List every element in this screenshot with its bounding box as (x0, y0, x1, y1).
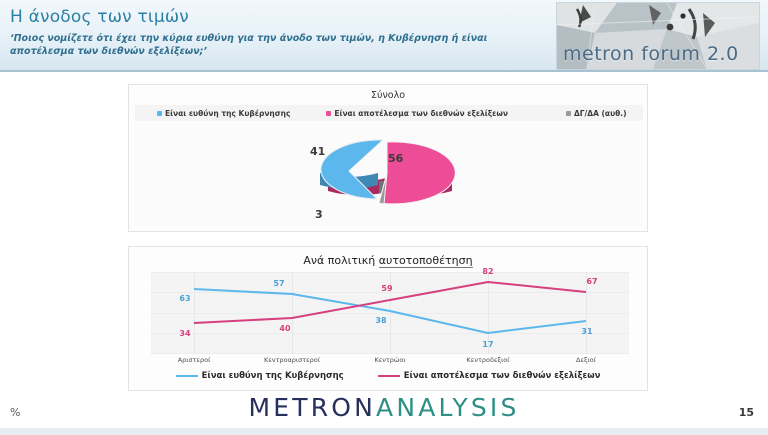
survey-question: ‘Ποιος νομίζετε ότι έχει την κύρια ευθύν… (10, 32, 538, 58)
x-label-4: Κεντροδεξιοί (467, 356, 510, 364)
x-label-3: Κεντρώοι (374, 356, 405, 364)
page-title: Η άνοδος των τιμών (10, 7, 189, 27)
pie-value-pink: 56 (388, 152, 403, 165)
line-panel-title-plain: Ανά πολιτική (303, 254, 378, 267)
line-chart-plot: 63 57 38 17 31 34 40 59 82 67 (151, 272, 629, 354)
pie-legend-label-2: Είναι αποτέλεσμα των διεθνών εξελίξεων (334, 109, 508, 118)
pie-chart-area: 41 56 3 (135, 123, 643, 227)
datapoint-blue-3: 38 (375, 316, 386, 325)
line-panel-title: Ανά πολιτική αυτοτοποθέτηση (129, 254, 647, 267)
line-chart-legend: Είναι ευθύνη της Κυβέρνησης Είναι αποτέλ… (129, 371, 647, 381)
pie-legend-item-dkna: ΔΓ/ΔΑ (αυθ.) (566, 109, 627, 118)
x-label-2: Κεντροαριστεροί (264, 356, 320, 364)
brand-metron: METRON (248, 393, 376, 422)
pie-legend-item-government: Είναι ευθύνη της Κυβέρνησης (157, 109, 290, 118)
logo-label: metron forum 2.0 (563, 43, 739, 65)
datapoint-pink-1: 34 (179, 329, 190, 338)
x-label-1: Αριστεροί (178, 356, 211, 364)
legend-line-icon (176, 375, 198, 377)
pie-panel-title: Σύνολο (129, 90, 647, 101)
political-breakdown-panel: Ανά πολιτική αυτοτοποθέτηση 63 57 38 17 … (128, 246, 648, 391)
x-label-5: Δεξιοί (576, 356, 596, 364)
pie-legend-label-1: Είναι ευθύνη της Κυβέρνησης (165, 109, 290, 118)
bottom-strip (0, 428, 768, 435)
total-pie-panel: Σύνολο Είναι ευθύνη της Κυβέρνησης Είναι… (128, 84, 648, 232)
page-number: 15 (739, 406, 754, 419)
datapoint-pink-2: 40 (279, 324, 290, 333)
slide: Η άνοδος των τιμών ‘Ποιος νομίζετε ότι έ… (0, 0, 768, 435)
datapoint-blue-1: 63 (179, 294, 190, 303)
series-line-government (194, 289, 586, 333)
datapoint-pink-4: 82 (482, 267, 493, 276)
legend-line-icon (378, 375, 400, 377)
line-legend-item-international: Είναι αποτέλεσμα των διεθνών εξελίξεων (378, 371, 601, 381)
datapoint-blue-2: 57 (273, 279, 284, 288)
datapoint-blue-4: 17 (482, 340, 493, 349)
datapoint-pink-3: 59 (381, 284, 392, 293)
brand-analysis: ANALYSIS (376, 393, 520, 422)
line-chart-x-axis: Αριστεροί Κεντροαριστεροί Κεντρώοι Κεντρ… (151, 356, 629, 368)
pie-legend: Είναι ευθύνη της Κυβέρνησης Είναι αποτέλ… (135, 105, 643, 121)
pie-value-blue: 41 (310, 145, 325, 158)
line-legend-item-government: Είναι ευθύνη της Κυβέρνησης (176, 371, 344, 381)
datapoint-pink-5: 67 (586, 277, 597, 286)
pie-value-gray: 3 (315, 208, 323, 221)
datapoint-blue-5: 31 (581, 327, 592, 336)
pie-legend-item-international: Είναι αποτέλεσμα των διεθνών εξελίξεων (326, 109, 508, 118)
line-legend-label-2: Είναι αποτέλεσμα των διεθνών εξελίξεων (404, 371, 601, 381)
legend-swatch-icon (566, 111, 571, 116)
legend-swatch-icon (326, 111, 331, 116)
metron-forum-logo: metron forum 2.0 (556, 2, 760, 70)
pie-chart (280, 121, 500, 227)
line-legend-label-1: Είναι ευθύνη της Κυβέρνησης (202, 371, 344, 381)
line-panel-title-underlined: αυτοτοποθέτηση (379, 254, 473, 268)
header-divider (0, 70, 768, 72)
legend-swatch-icon (157, 111, 162, 116)
pie-legend-label-3: ΔΓ/ΔΑ (αυθ.) (574, 109, 627, 118)
metron-analysis-brand: METRONANALYSIS (0, 393, 768, 422)
